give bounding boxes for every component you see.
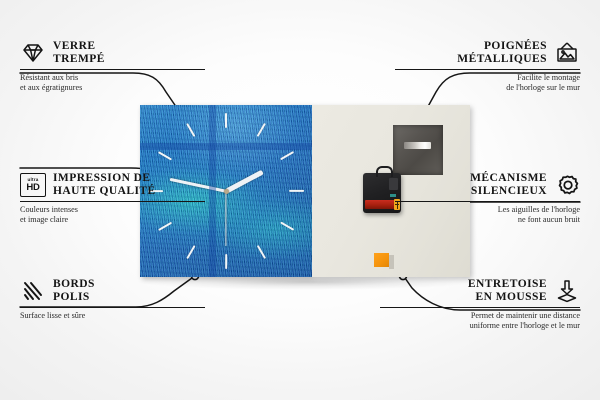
feature-description: Permet de maintenir une distance uniform… [380,311,580,331]
picture-frame-icon [554,40,580,66]
feature-divider [395,201,580,202]
feature-description: Résistant aux bris et aux égratignures [20,73,205,93]
clock-tick [289,190,304,192]
clock-second-hand [225,191,226,246]
battery [365,200,397,209]
ultra-hd-icon-main-text: HD [26,183,39,193]
feature-divider [20,201,205,202]
feature-title: IMPRESSION DE HAUTE QUALITÉ [53,172,156,198]
foam-spacer [374,253,389,267]
feature-title: POIGNÉES MÉTALLIQUES [457,40,547,66]
feature-divider [380,307,580,308]
hanger-slot [404,142,431,149]
clock-tick [158,151,172,160]
diagonal-lines-icon [20,278,46,304]
feature-description: Couleurs intenses et image claire [20,205,205,225]
feature-title: BORDS POLIS [53,278,95,304]
down-arrow-stack-icon [554,278,580,304]
gear-icon [554,172,580,198]
clock-tick [257,123,266,137]
feature-divider [395,69,580,70]
clock-hand-hub [224,189,229,194]
feature-header: VERRE TREMPÉ [20,40,205,66]
feature-header: ultra HD IMPRESSION DE HAUTE QUALITÉ [20,172,205,198]
clock-tick [280,151,294,160]
feature-header: ENTRETOISE EN MOUSSE [380,278,580,304]
feature-description: Surface lisse et sûre [20,311,205,321]
feature-title: MÉCANISME SILENCIEUX [470,172,547,198]
feature-mecanisme-silencieux: MÉCANISME SILENCIEUX Les aiguilles de l'… [395,172,580,225]
clock-tick [225,254,227,269]
feature-header: BORDS POLIS [20,278,205,304]
feature-header: POIGNÉES MÉTALLIQUES [395,40,580,66]
clock-hour-hand [225,170,263,193]
clock-tick [186,245,195,259]
feature-header: MÉCANISME SILENCIEUX [395,172,580,198]
feature-divider [20,69,205,70]
mechanism-hanging-loop [376,166,393,177]
clock-tick [257,245,266,259]
ultra-hd-icon: ultra HD [20,172,46,198]
feature-title: ENTRETOISE EN MOUSSE [468,278,547,304]
feature-description: Les aiguilles de l'horloge ne font aucun… [395,205,580,225]
feature-impression-haute-qualite: ultra HD IMPRESSION DE HAUTE QUALITÉ Cou… [20,172,205,225]
clock-tick [225,113,227,128]
infographic-canvas: VERRE TREMPÉ Résistant aux bris et aux é… [0,0,600,400]
feature-title: VERRE TREMPÉ [53,40,105,66]
feature-description: Facilite le montage de l'horloge sur le … [395,73,580,93]
feature-divider [20,307,205,308]
feature-entretoise-en-mousse: ENTRETOISE EN MOUSSE Permet de maintenir… [380,278,580,331]
metal-hanger-plate [393,125,443,175]
feature-bords-polis: BORDS POLIS Surface lisse et sûre [20,278,205,321]
feature-verre-trempe: VERRE TREMPÉ Résistant aux bris et aux é… [20,40,205,93]
diamond-icon [20,40,46,66]
clock-tick [280,222,294,231]
clock-tick [186,123,195,137]
feature-poignees-metalliques: POIGNÉES MÉTALLIQUES Facilite le montage… [395,40,580,93]
